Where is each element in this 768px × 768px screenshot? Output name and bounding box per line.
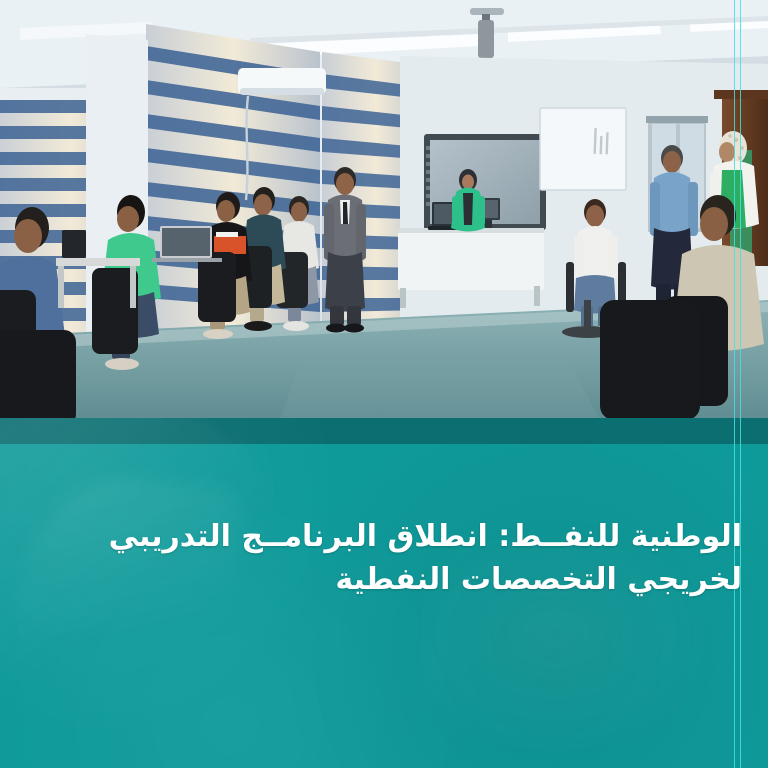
headline-text: الوطنية للنفــط: انطلاق البرنامــج التدر… [36,516,742,601]
footer: قناة التناصح الفضائية [0,650,768,730]
social-media-news-card: الوطنية للنفــط: انطلاق البرنامــج التدر… [0,0,768,768]
news-photo [0,0,768,420]
